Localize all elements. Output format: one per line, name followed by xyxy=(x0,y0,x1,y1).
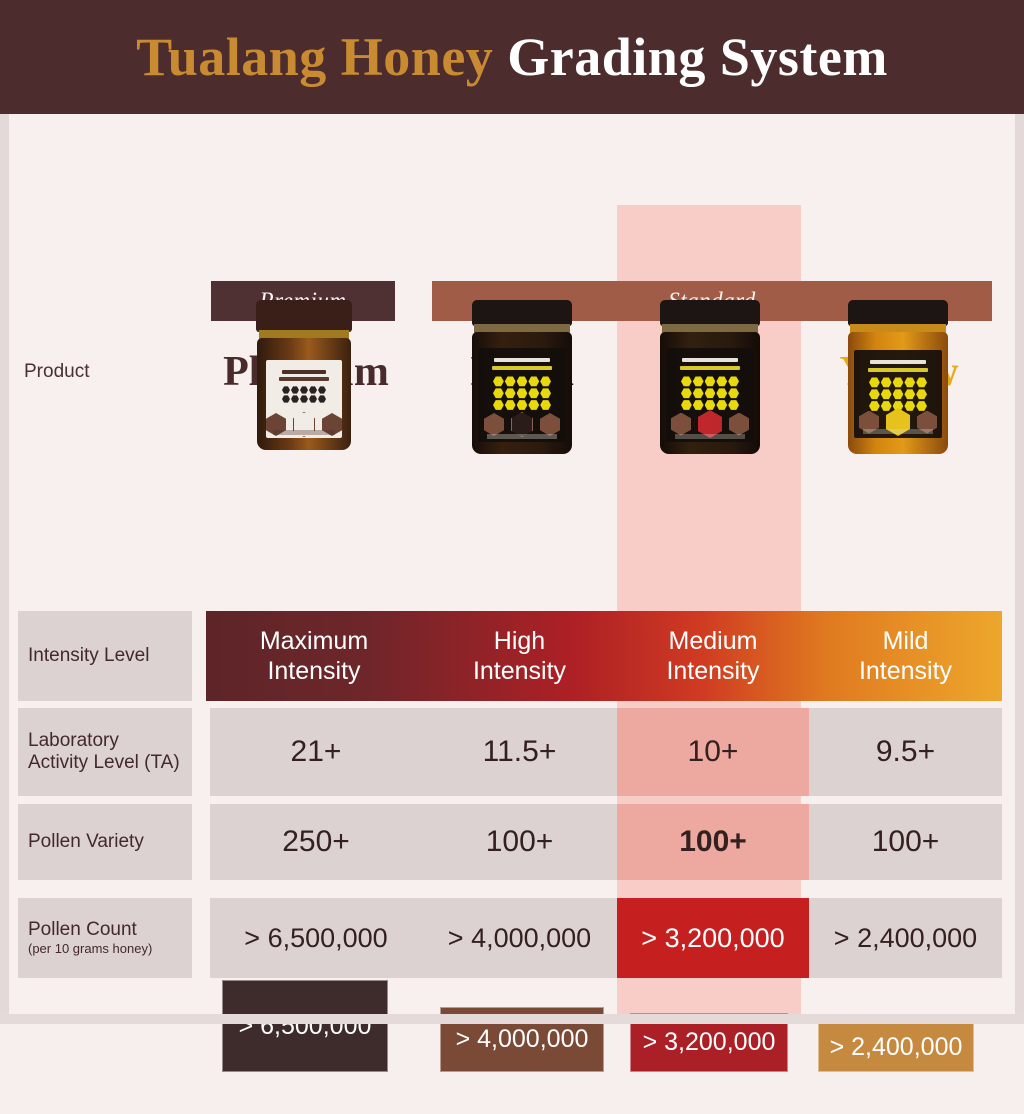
row-label-intensity-level: Intensity Level xyxy=(18,611,192,701)
jar-label-subline xyxy=(492,366,552,370)
jar-label xyxy=(266,360,342,438)
bar-yellow: > 2,400,000 xyxy=(818,1022,974,1072)
jar-image-red xyxy=(652,300,768,460)
cell-count-red: > 3,200,000 xyxy=(617,898,809,978)
cell-variety-platinum: 250+ xyxy=(210,804,422,880)
bar-platinum: > 6,500,000 xyxy=(222,980,388,1072)
row-label-text-line1: Laboratory xyxy=(28,730,119,752)
page-title: Tualang Honey Grading System xyxy=(136,26,888,88)
intensity-cell-red: Medium Intensity xyxy=(617,611,809,701)
cell-variety-yellow: 100+ xyxy=(809,804,1002,880)
page-header: Tualang Honey Grading System xyxy=(0,0,1024,114)
hex-badge-icon xyxy=(540,413,560,436)
cell-lab-red: 10+ xyxy=(617,708,809,796)
cell-variety-black: 100+ xyxy=(422,804,617,880)
title-brand: Tualang Honey xyxy=(136,27,493,87)
row-pollen-count: > 6,500,000 > 4,000,000 > 3,200,000 > 2,… xyxy=(210,898,1002,978)
pollen-count-bar-chart: > 6,500,000 > 4,000,000 > 3,200,000 > 2,… xyxy=(0,994,1024,1114)
honeycomb-grid xyxy=(493,376,551,410)
jar-lid xyxy=(660,300,760,326)
row-pollen-variety: 250+ 100+ 100+ 100+ xyxy=(210,804,1002,880)
intensity-gradient-bar: Maximum Intensity High Intensity Medium … xyxy=(206,611,1002,701)
jar-image-platinum xyxy=(245,300,363,460)
row-label-product: Product xyxy=(24,361,89,383)
row-label-text: Pollen Count xyxy=(28,919,137,941)
jar-label-subline xyxy=(868,368,928,372)
left-edge-strip xyxy=(0,114,9,1024)
hex-badge-icon xyxy=(484,413,504,436)
honeycomb-icon xyxy=(493,376,551,410)
jar-label xyxy=(478,348,566,442)
jar-body xyxy=(660,332,760,454)
jar-label-brandline xyxy=(682,358,738,362)
intensity-value: High Intensity xyxy=(473,626,566,686)
footer-strip xyxy=(0,1014,1024,1024)
honeycomb-icon xyxy=(282,386,326,403)
hex-badge-icon xyxy=(671,413,691,436)
infographic-page: Tualang Honey Grading System Premium Sta… xyxy=(0,0,1024,1024)
hex-badge-icon xyxy=(729,413,749,436)
row-label-pollen-count: Pollen Count (per 10 grams honey) xyxy=(18,898,192,978)
jar-image-yellow xyxy=(840,300,956,460)
intensity-value: Medium Intensity xyxy=(666,626,759,686)
intensity-value: Maximum Intensity xyxy=(260,626,368,686)
jar-label xyxy=(666,348,754,442)
grading-table: Premium Standard Product Platinum Black … xyxy=(0,114,1024,1024)
cell-count-platinum: > 6,500,000 xyxy=(210,898,422,978)
cell-lab-platinum: 21+ xyxy=(210,708,422,796)
honeycomb-grid xyxy=(869,377,927,411)
intensity-cell-black: High Intensity xyxy=(422,611,617,701)
cell-count-black: > 4,000,000 xyxy=(422,898,617,978)
jar-label-subline xyxy=(680,366,740,370)
intensity-cell-platinum: Maximum Intensity xyxy=(206,611,422,701)
jar-label-footline xyxy=(675,434,745,439)
jar-label-footline xyxy=(863,429,933,434)
jar-body xyxy=(257,338,351,450)
jar-lid xyxy=(256,300,352,332)
row-label-lab-activity: Laboratory Activity Level (TA) xyxy=(18,708,192,796)
jar-image-black xyxy=(464,300,580,460)
right-edge-strip xyxy=(1015,114,1024,1024)
jar-label-brandline xyxy=(494,358,550,362)
jar-label-footline xyxy=(487,434,557,439)
jar-label-brandline xyxy=(282,370,326,374)
honeycomb-grid xyxy=(681,376,739,410)
jar-lid xyxy=(848,300,948,326)
jar-label-brandline xyxy=(870,360,926,364)
cell-variety-red: 100+ xyxy=(617,804,809,880)
row-label-subtext: (per 10 grams honey) xyxy=(28,941,152,957)
jar-label xyxy=(854,350,942,438)
intensity-value: Mild Intensity xyxy=(859,626,952,686)
honeycomb-grid xyxy=(282,386,326,403)
jar-lid xyxy=(472,300,572,326)
intensity-cell-yellow: Mild Intensity xyxy=(809,611,1002,701)
title-subject: Grading System xyxy=(507,27,888,87)
row-label-text: Pollen Variety xyxy=(28,831,144,853)
jar-body xyxy=(848,332,948,454)
cell-count-yellow: > 2,400,000 xyxy=(809,898,1002,978)
row-label-text: Intensity Level xyxy=(28,645,149,667)
row-label-pollen-variety: Pollen Variety xyxy=(18,804,192,880)
honeycomb-icon xyxy=(869,377,927,411)
cell-lab-yellow: 9.5+ xyxy=(809,708,1002,796)
row-lab-activity: 21+ 11.5+ 10+ 9.5+ xyxy=(210,708,1002,796)
jar-label-subline xyxy=(279,377,329,381)
honeycomb-icon xyxy=(681,376,739,410)
row-label-text-line2: Activity Level (TA) xyxy=(28,752,180,774)
jar-body xyxy=(472,332,572,454)
jar-label-footline xyxy=(273,430,335,435)
cell-lab-black: 11.5+ xyxy=(422,708,617,796)
